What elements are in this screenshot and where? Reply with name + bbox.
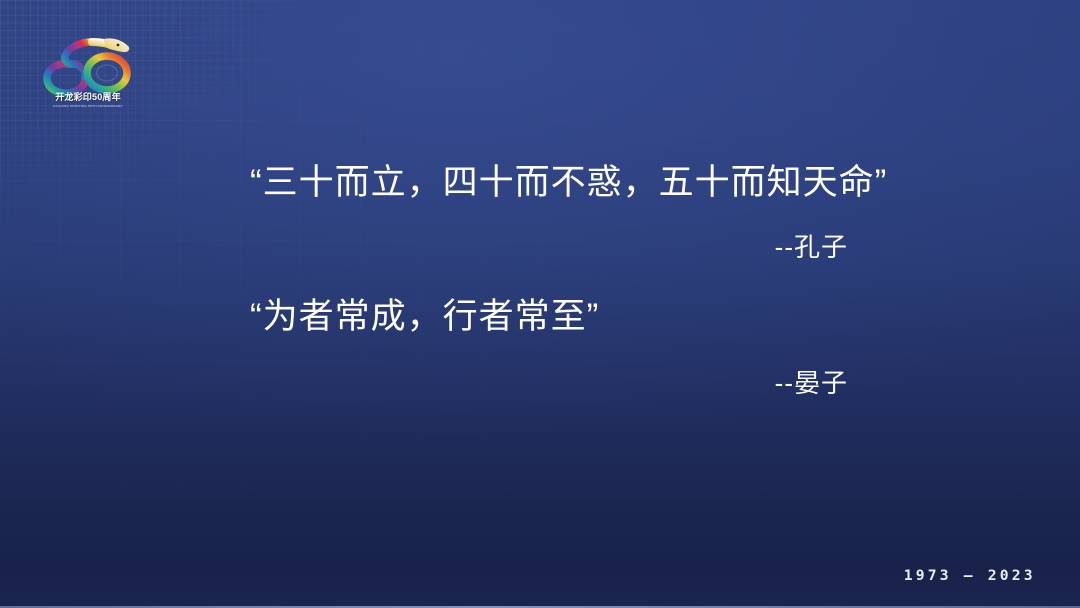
quote-1-attribution-row: --孔子 [0, 232, 1080, 263]
slide-canvas: 开龙彩印50周年 KAILONG PRINTING 50TH ANNIVERSA… [0, 0, 1080, 608]
logo-subcaption: KAILONG PRINTING 50TH ANNIVERSARY [36, 105, 140, 108]
anniversary-year-range: 1973 — 2023 [904, 568, 1036, 584]
anniversary-logo: 开龙彩印50周年 KAILONG PRINTING 50TH ANNIVERSA… [36, 24, 140, 108]
quote-2-attribution-row: --晏子 [0, 368, 1080, 399]
quote-2-attribution: --晏子 [0, 368, 1080, 399]
quote-1-text: “三十而立，四十而不惑，五十而知天命” [0, 162, 1080, 205]
quote-2: “为者常成，行者常至” [0, 296, 1080, 339]
quote-2-text: “为者常成，行者常至” [0, 296, 1080, 339]
quote-1-attribution: --孔子 [0, 232, 1080, 263]
quote-1: “三十而立，四十而不惑，五十而知天命” [0, 162, 1080, 205]
logo-caption: 开龙彩印50周年 [36, 93, 140, 102]
